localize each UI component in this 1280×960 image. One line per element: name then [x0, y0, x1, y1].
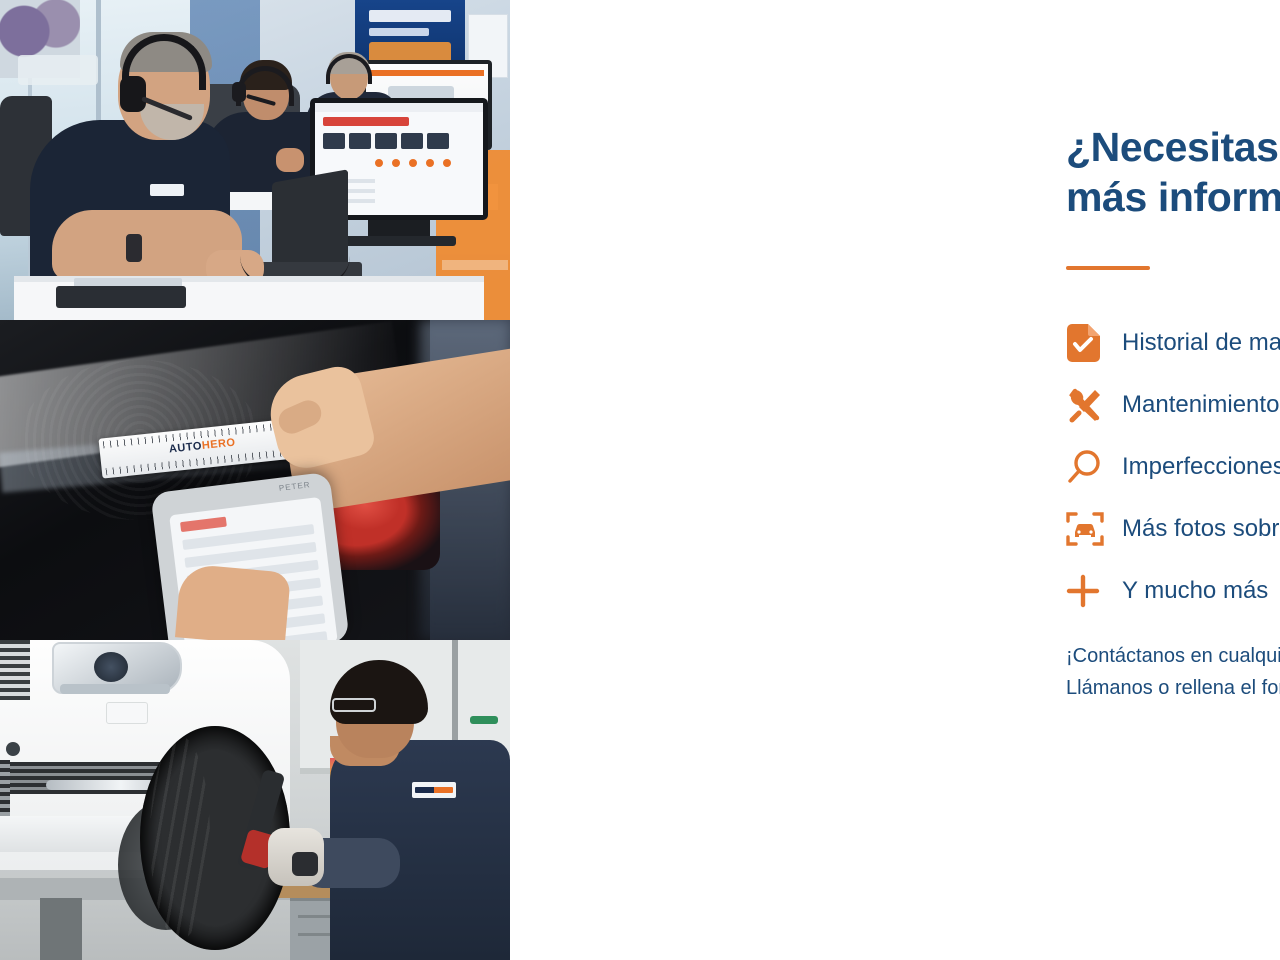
title-line-1: ¿Necesitas — [1066, 122, 1280, 172]
car-focus-frame-icon — [1066, 510, 1122, 548]
promo-banner: AUTOHERO PETER — [0, 0, 1280, 960]
ruler-brand-hero: HERO — [201, 437, 236, 452]
list-item: Imperfecciones — [1066, 436, 1280, 498]
magnifier-icon — [1066, 449, 1122, 485]
photo-car-inspection: AUTOHERO PETER — [0, 320, 510, 640]
contact-text: ¡Contáctanos en cualquier momento para m… — [1066, 640, 1280, 705]
list-item: Más fotos sobre el coche — [1066, 498, 1280, 560]
page-title: ¿Necesitas más información? — [1066, 122, 1280, 222]
ruler-brand-auto: AUTO — [168, 440, 202, 455]
document-check-icon — [1066, 324, 1122, 362]
list-item: Y mucho más — [1066, 560, 1280, 622]
photo-call-center — [0, 0, 510, 320]
feature-list: Historial de mantenimientos Mantenimient… — [1066, 312, 1280, 622]
list-item-label: Y mucho más — [1122, 577, 1268, 605]
tablet-label: PETER — [278, 480, 311, 493]
photo-tire-service — [0, 640, 510, 960]
photo-column: AUTOHERO PETER — [0, 0, 510, 960]
list-item: Mantenimiento realizado — [1066, 374, 1280, 436]
contact-line-1: ¡Contáctanos en cualquier momento para m… — [1066, 640, 1280, 672]
list-item-label: Mantenimiento realizado — [1122, 391, 1280, 419]
wrench-screwdriver-icon — [1066, 386, 1122, 424]
list-item: Historial de mantenimientos — [1066, 312, 1280, 374]
list-item-label: Más fotos sobre el coche — [1122, 515, 1280, 543]
content-panel: ¿Necesitas más información? Estamos enca… — [510, 0, 1280, 960]
title-line-2: más información? — [1066, 172, 1280, 222]
title-divider — [1066, 266, 1150, 270]
contact-line-2: Llámanos o rellena el formulario de cont… — [1066, 672, 1280, 704]
list-item-label: Imperfecciones — [1122, 453, 1280, 481]
list-item-label: Historial de mantenimientos — [1122, 329, 1280, 357]
plus-icon — [1066, 574, 1122, 608]
